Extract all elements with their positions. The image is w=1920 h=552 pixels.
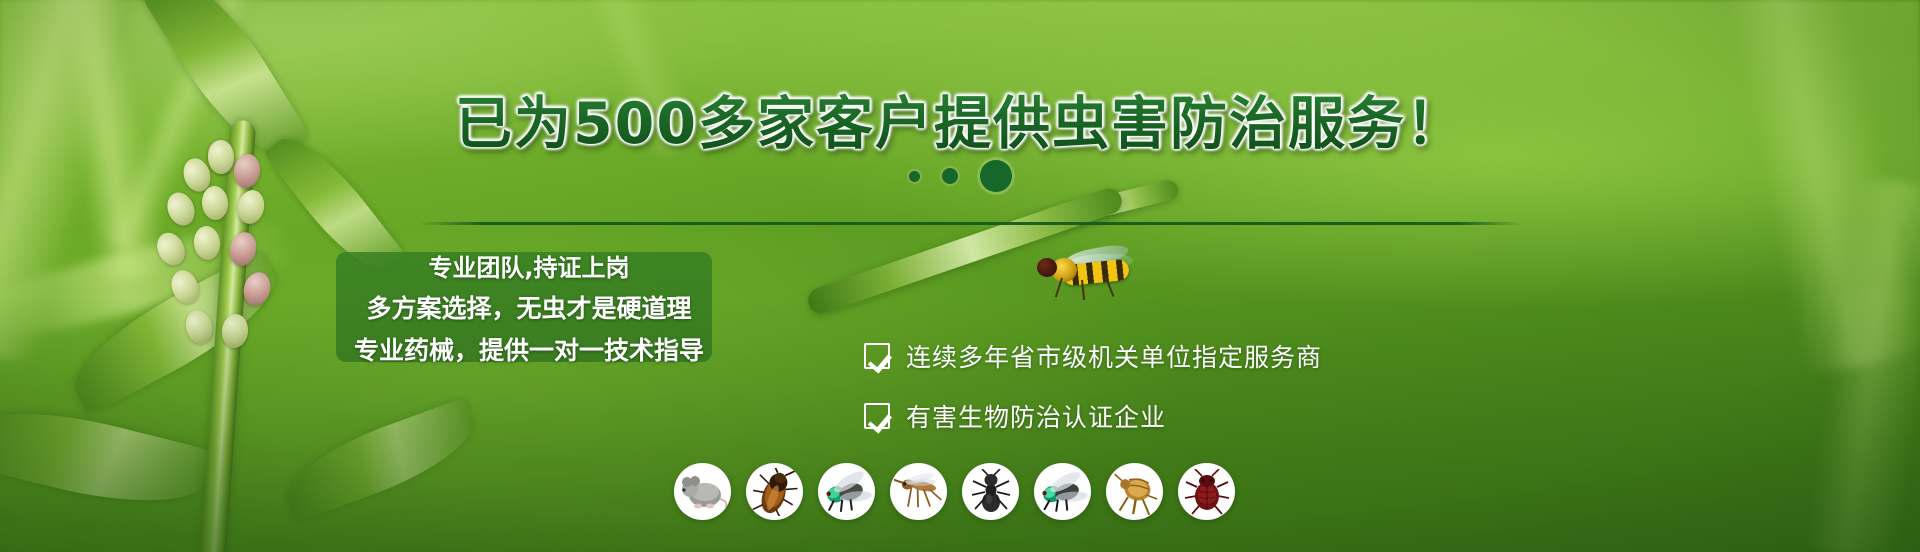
slogan-line-2: 多方案选择，无虫才是硬道理 <box>366 289 691 325</box>
decorative-dot-mid <box>942 168 958 184</box>
ant-icon[interactable] <box>962 463 1019 520</box>
slogan-list: 专业团队,持证上岗 多方案选择，无虫才是硬道理 专业药械，提供一对一技术指导 <box>336 252 722 362</box>
promo-banner: 已为500多家客户提供虫害防治服务！ 专业团队,持证上岗 多方案选择，无虫才是硬… <box>0 0 1920 552</box>
banner-headline: 已为500多家客户提供虫害防治服务！ <box>0 78 1920 160</box>
decorative-dots <box>0 160 1920 192</box>
flea-icon[interactable] <box>1106 463 1163 520</box>
checklist-item-label: 有害生物防治认证企业 <box>906 398 1166 434</box>
slogan-line-1: 专业团队,持证上岗 <box>428 248 629 283</box>
pest-icon-row <box>674 463 1235 520</box>
blowfly-icon[interactable] <box>1034 463 1091 520</box>
decorative-dot-small <box>909 171 920 182</box>
checklist-item: 连续多年省市级机关单位指定服务商 <box>864 338 1484 374</box>
bedbug-icon[interactable] <box>1178 463 1235 520</box>
checkmark-icon <box>864 343 890 369</box>
cockroach-icon[interactable] <box>746 463 803 520</box>
divider-line <box>418 222 1523 225</box>
slogan-line-3: 专业药械，提供一对一技术指导 <box>354 331 704 367</box>
checklist-item-label: 连续多年省市级机关单位指定服务商 <box>906 338 1322 374</box>
checkmark-icon <box>864 403 890 429</box>
checklist-item: 有害生物防治认证企业 <box>864 398 1484 434</box>
mouse-icon[interactable] <box>674 463 731 520</box>
mosquito-icon[interactable] <box>890 463 947 520</box>
credentials-checklist: 连续多年省市级机关单位指定服务商 有害生物防治认证企业 <box>864 338 1484 434</box>
fly-icon[interactable] <box>818 463 875 520</box>
decorative-dot-large <box>980 160 1012 192</box>
